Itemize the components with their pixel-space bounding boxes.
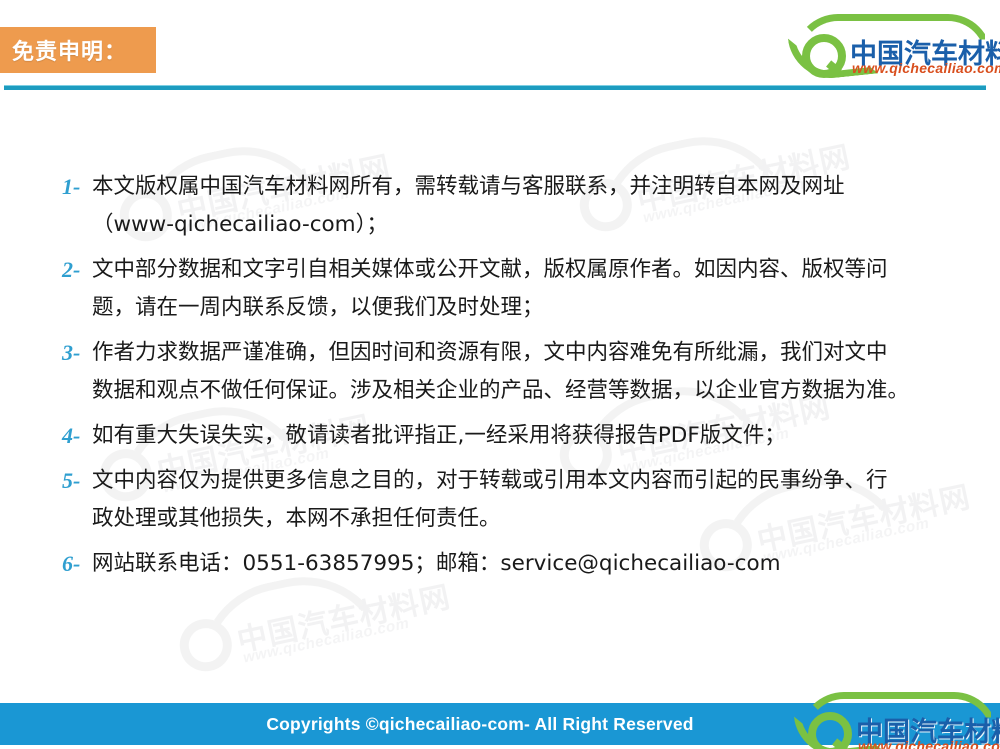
list-item-text: 作者力求数据严谨准确，但因时间和资源有限，文中内容难免有所纰漏，我们对文中 数据… — [92, 334, 952, 410]
slide-canvas: 中国汽车材料网 www.qichecailiao.com 中国汽车材料网 www… — [0, 0, 1000, 749]
list-item: 1- 本文版权属中国汽车材料网所有，需转载请与客服联系，并注明转自本网及网址 （… — [62, 168, 952, 244]
page-title: 免责申明： — [12, 34, 127, 66]
brand-logo-footer[interactable]: 中国汽车材料网 www.qichecailiao.com — [792, 690, 1000, 749]
disclaimer-list: 1- 本文版权属中国汽车材料网所有，需转载请与客服联系，并注明转自本网及网址 （… — [62, 168, 952, 590]
list-item-text: 文中部分数据和文字引自相关媒体或公开文献，版权属原作者。如因内容、版权等问 题，… — [92, 251, 952, 327]
list-item-text: 网站联系电话：0551-63857995；邮箱：service@qichecai… — [92, 545, 952, 583]
page-title-badge: 免责申明： — [0, 27, 156, 73]
brand-url: www.qichecailiao.com — [858, 738, 1000, 749]
copyright-text: Copyrights ©qichecailiao-com- All Right … — [266, 714, 693, 735]
list-item-text: 文中内容仅为提供更多信息之目的，对于转载或引用本文内容而引起的民事纷争、行 政处… — [92, 462, 952, 538]
list-item: 2- 文中部分数据和文字引自相关媒体或公开文献，版权属原作者。如因内容、版权等问… — [62, 251, 952, 327]
list-item-marker: 1- — [62, 168, 92, 206]
list-item-marker: 6- — [62, 545, 92, 583]
list-item-marker: 4- — [62, 417, 92, 455]
q-letter-icon — [802, 34, 846, 78]
list-item: 3- 作者力求数据严谨准确，但因时间和资源有限，文中内容难免有所纰漏，我们对文中… — [62, 334, 952, 410]
list-item-marker: 2- — [62, 251, 92, 289]
list-item-marker: 3- — [62, 334, 92, 372]
list-item: 6- 网站联系电话：0551-63857995；邮箱：service@qiche… — [62, 545, 952, 583]
watermark-ring-icon — [175, 614, 237, 676]
q-letter-icon — [808, 712, 852, 749]
list-item: 4- 如有重大失误失实，敬请读者批评指正,一经采用将获得报告PDF版文件； — [62, 417, 952, 455]
brand-url: www.qichecailiao.com — [852, 60, 1000, 76]
list-item: 5- 文中内容仅为提供更多信息之目的，对于转载或引用本文内容而引起的民事纷争、行… — [62, 462, 952, 538]
brand-logo-header[interactable]: 中国汽车材料网 www.qichecailiao.com — [786, 12, 998, 80]
list-item-text: 本文版权属中国汽车材料网所有，需转载请与客服联系，并注明转自本网及网址 （www… — [92, 168, 952, 244]
list-item-text: 如有重大失误失实，敬请读者批评指正,一经采用将获得报告PDF版文件； — [92, 417, 952, 455]
list-item-marker: 5- — [62, 462, 92, 500]
watermark-url-text: www.qichecailiao.com — [242, 615, 411, 667]
header-divider — [4, 85, 986, 90]
